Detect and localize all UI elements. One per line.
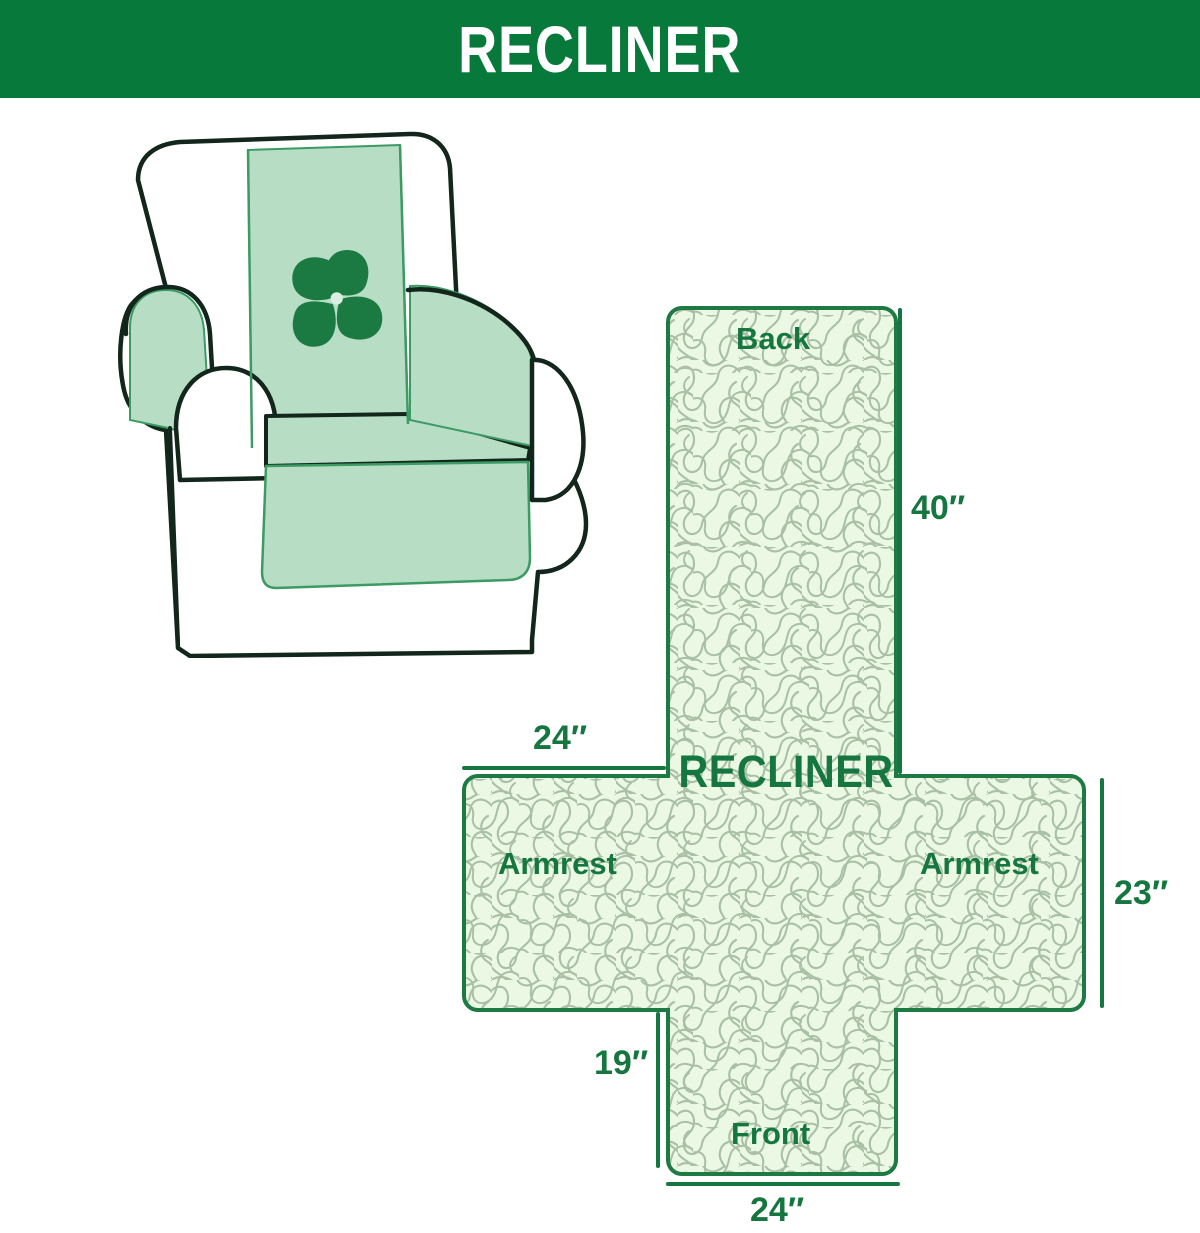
header-banner: RECLINER: [0, 0, 1200, 98]
section-label-center: RECLINER: [678, 749, 893, 794]
page-title: RECLINER: [458, 16, 741, 82]
section-label-armrest-left: Armrest: [498, 848, 617, 879]
section-label-front: Front: [731, 1118, 810, 1149]
dimension-label-front-width: 24″: [750, 1193, 804, 1227]
section-label-back: Back: [736, 323, 810, 354]
dimension-label-front-height: 19″: [594, 1046, 648, 1080]
content-stage: Back RECLINER Armrest Armrest Front 40″ …: [0, 98, 1200, 1200]
dimension-label-back-height: 40″: [911, 491, 965, 525]
dimension-label-arm-depth: 23″: [1114, 876, 1168, 910]
section-label-armrest-right: Armrest: [920, 848, 1039, 879]
slipcover-pattern-diagram: Back RECLINER Armrest Armrest Front 40″ …: [430, 298, 1200, 1228]
dimension-label-back-width: 24″: [533, 721, 587, 755]
